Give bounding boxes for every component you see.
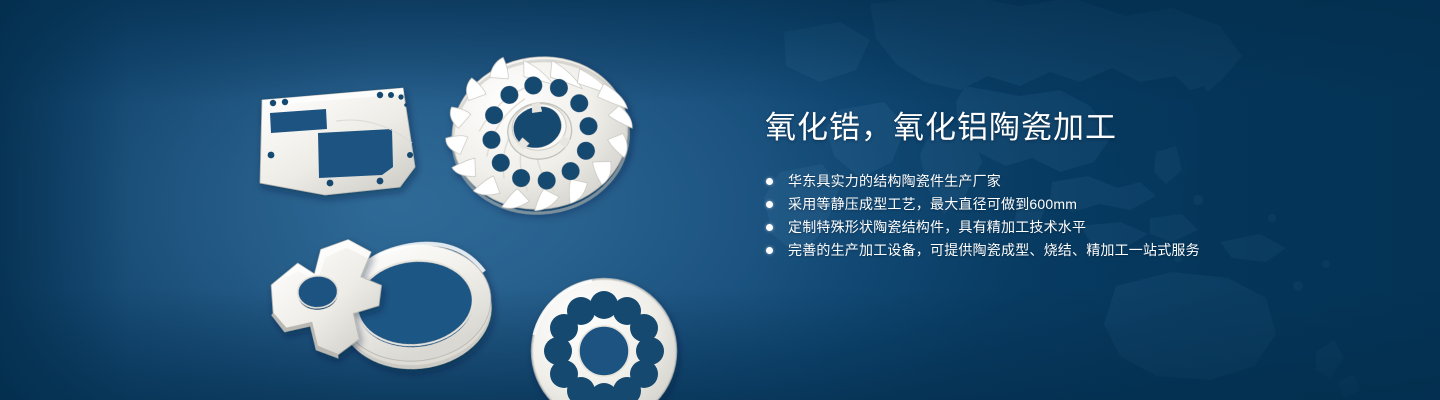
feature-list: 华东具实力的结构陶瓷件生产厂家 采用等静压成型工艺，最大直径可做到600mm 定… bbox=[765, 170, 1325, 262]
feature-text: 华东具实力的结构陶瓷件生产厂家 bbox=[788, 173, 1001, 189]
banner-copy: 氧化锆，氧化铝陶瓷加工 华东具实力的结构陶瓷件生产厂家 采用等静压成型工艺，最大… bbox=[765, 108, 1325, 262]
hero-banner: 氧化锆，氧化铝陶瓷加工 华东具实力的结构陶瓷件生产厂家 采用等静压成型工艺，最大… bbox=[0, 0, 1440, 400]
product-ceramic-perforated-disc bbox=[532, 279, 676, 400]
feature-text: 定制特殊形状陶瓷结构件，具有精加工技术水平 bbox=[788, 219, 1086, 235]
bullet-dot-icon bbox=[766, 201, 773, 208]
product-photo-collage bbox=[240, 55, 710, 385]
list-item: 定制特殊形状陶瓷结构件，具有精加工技术水平 bbox=[765, 216, 1325, 239]
list-item: 采用等静压成型工艺，最大直径可做到600mm bbox=[765, 193, 1325, 216]
feature-text: 采用等静压成型工艺，最大直径可做到600mm bbox=[788, 196, 1077, 212]
list-item: 华东具实力的结构陶瓷件生产厂家 bbox=[765, 170, 1325, 193]
product-ceramic-impeller bbox=[436, 41, 643, 225]
product-ceramic-plate bbox=[260, 88, 415, 195]
bullet-dot-icon bbox=[766, 224, 773, 231]
list-item: 完善的生产加工设备，可提供陶瓷成型、烧结、精加工一站式服务 bbox=[765, 239, 1325, 262]
feature-text: 完善的生产加工设备，可提供陶瓷成型、烧结、精加工一站式服务 bbox=[788, 242, 1200, 258]
bullet-dot-icon bbox=[766, 247, 773, 254]
bullet-dot-icon bbox=[766, 178, 773, 185]
page-title: 氧化锆，氧化铝陶瓷加工 bbox=[765, 108, 1325, 148]
